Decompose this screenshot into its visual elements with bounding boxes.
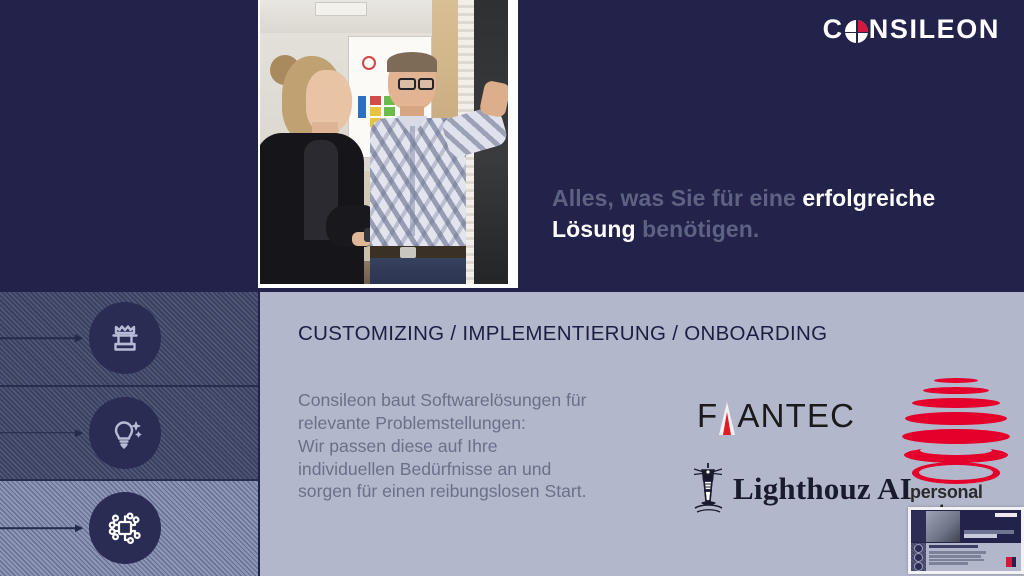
body-line: Consileon baut Softwarelösungen für [298,389,678,412]
logo-o-crossbar [845,32,868,34]
content-panel: CUSTOMIZING / IMPLEMENTIERUNG / ONBOARDI… [260,292,1024,576]
fiantec-text-after: ANTEC [737,397,855,435]
section-body-text: Consileon baut Softwarelösungen für rele… [298,389,678,503]
thumbnail-logo [995,513,1017,517]
thumbnail-body-line [929,551,986,554]
thumbnail-body-line [929,562,969,565]
section-kicker: CUSTOMIZING / IMPLEMENTIERUNG / ONBOARDI… [298,322,827,346]
thumbnail-left-block [911,511,926,542]
logo-text-before: C [823,14,844,45]
headline-text-1: Alles, was Sie für eine [552,185,802,211]
body-line: sorgen für einen reibungslosen Start. [298,480,678,503]
hero-photo-frame [258,0,518,288]
consileon-logo[interactable]: C NSILEON [823,14,1000,45]
arrow-right-icon [0,338,82,340]
thumbnail-body-line [929,555,982,558]
sidebar-item-strategy[interactable] [0,292,258,387]
thumbnail-body-line [929,559,984,562]
photo-person-man-glasses [398,78,416,90]
photo-sticky-note [384,107,395,116]
arrow-right-icon [0,528,82,530]
photo-sticky-note [358,96,366,118]
body-line: relevante Problemstellungen: [298,412,678,435]
fiantec-text-before: F [697,397,718,435]
photo-sticky-note [370,107,381,116]
personal-apt-logo[interactable]: personal apt [900,376,1018,518]
chess-rook-icon [89,302,161,374]
hero-headline: Alles, was Sie für eine erfolgreiche Lös… [552,183,1002,246]
logo-o-mark-icon [845,20,868,43]
headline-text-3: benötigen. [636,216,760,242]
arrow-right-icon [0,432,82,434]
hero-photo [260,0,508,284]
logo-text-after: NSILEON [869,14,1000,45]
photo-person-man-glasses [418,78,434,90]
lighthouz-ai-logo[interactable]: Lighthouz AI [685,460,912,518]
thumbnail-canvas [911,510,1021,571]
photo-person-man-hair [387,52,437,72]
photo-flipchart-circle [362,56,376,70]
headline-highlight-2: Lösung [552,216,636,242]
headline-highlight-1: erfolgreiche [802,185,935,211]
thumbnail-kicker [929,545,979,548]
fiantec-flame-icon [719,401,736,435]
slide-preview-thumbnail[interactable] [908,507,1024,574]
photo-person-man-placket [410,126,415,236]
sidebar-item-innovation[interactable] [0,387,258,482]
body-line: Wir passen diese auf Ihre [298,435,678,458]
thumbnail-headline [964,534,997,538]
thumbnail-photo [926,511,960,542]
lightbulb-idea-icon [89,397,161,469]
lighthouz-ai-text: Lighthouz AI [733,471,912,507]
thumbnail-headline [964,530,1015,534]
body-line: individuellen Bedürfnisse an und [298,458,678,481]
photo-sticky-note [370,96,381,105]
personal-apt-sphere-icon [900,376,1012,488]
photo-person-man-buckle [400,247,416,258]
thumbnail-partner-mark [1012,557,1016,567]
presentation-slide: Alles, was Sie für eine erfolgreiche Lös… [0,0,1024,576]
photo-person-man-jeans [370,258,466,284]
icon-sidebar [0,292,258,576]
ai-chip-icon [89,492,161,564]
hero-band: Alles, was Sie für eine erfolgreiche Lös… [0,0,1024,292]
hero-left-spacer [0,0,258,292]
fiantec-logo[interactable]: F ANTEC [697,397,855,435]
photo-ceiling-vent [315,2,367,16]
lighthouse-icon [685,460,731,518]
sidebar-item-ai-technology[interactable] [0,481,258,576]
